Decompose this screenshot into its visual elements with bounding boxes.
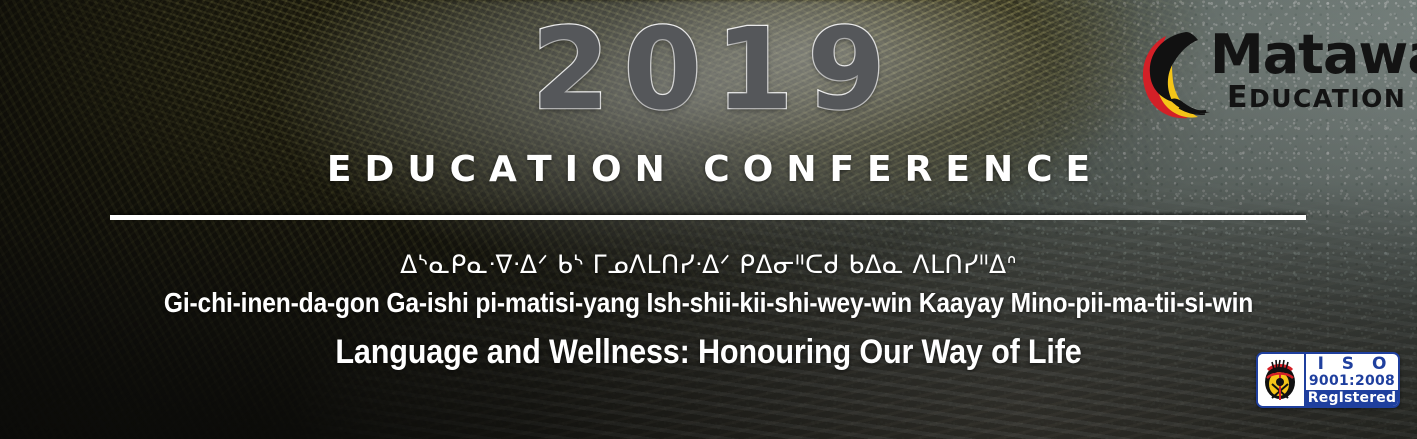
iso-certification-badge[interactable]: I S O 9001:2008 RegIstered xyxy=(1256,352,1400,408)
logo-name: Matawa xyxy=(1210,28,1400,82)
iso-text-block: I S O 9001:2008 RegIstered xyxy=(1306,354,1398,406)
logo-subtitle-initial: E xyxy=(1227,80,1249,115)
logo-wordmark: Matawa EDUCATION xyxy=(1210,28,1400,113)
horizontal-rule xyxy=(110,215,1306,220)
conference-banner: 2019 EDUCATION CONFERENCE ᐃᔅᓇᑭᓇᐧᐁᐧᐃᐟ ᑲᔅ … xyxy=(0,0,1417,439)
theme-romanized: Gi-chi-inen-da-gon Ga-ishi pi-matisi-yan… xyxy=(85,288,1332,319)
iso-number-label: 9001:2008 xyxy=(1309,374,1395,389)
banner-content: 2019 EDUCATION CONFERENCE ᐃᔅᓇᑭᓇᐧᐁᐧᐃᐟ ᑲᔅ … xyxy=(0,0,1417,439)
registrar-emblem-art xyxy=(1258,354,1304,406)
iso-standard-label: I S O xyxy=(1312,356,1393,374)
logo-subtitle-rest: DUCATION xyxy=(1249,84,1406,113)
feather-crescent-icon xyxy=(1136,30,1220,122)
registrar-emblem-icon xyxy=(1258,354,1306,406)
theme-syllabics: ᐃᔅᓇᑭᓇᐧᐁᐧᐃᐟ ᑲᔅ ᒥᓄᐱᒪᑎᓯᐧᐃᐟ ᑭᐃᓂᐦᑕᑯ ᑲᐃᓇ ᐱᒪᑎᓯᐦ… xyxy=(0,251,1417,280)
matawa-education-logo[interactable]: Matawa EDUCATION xyxy=(1136,28,1398,124)
event-title: EDUCATION CONFERENCE xyxy=(0,152,1417,188)
logo-subtitle: EDUCATION xyxy=(1210,83,1400,113)
theme-english: Language and Wellness: Honouring Our Way… xyxy=(71,334,1346,371)
iso-status-label: RegIstered xyxy=(1306,390,1398,406)
